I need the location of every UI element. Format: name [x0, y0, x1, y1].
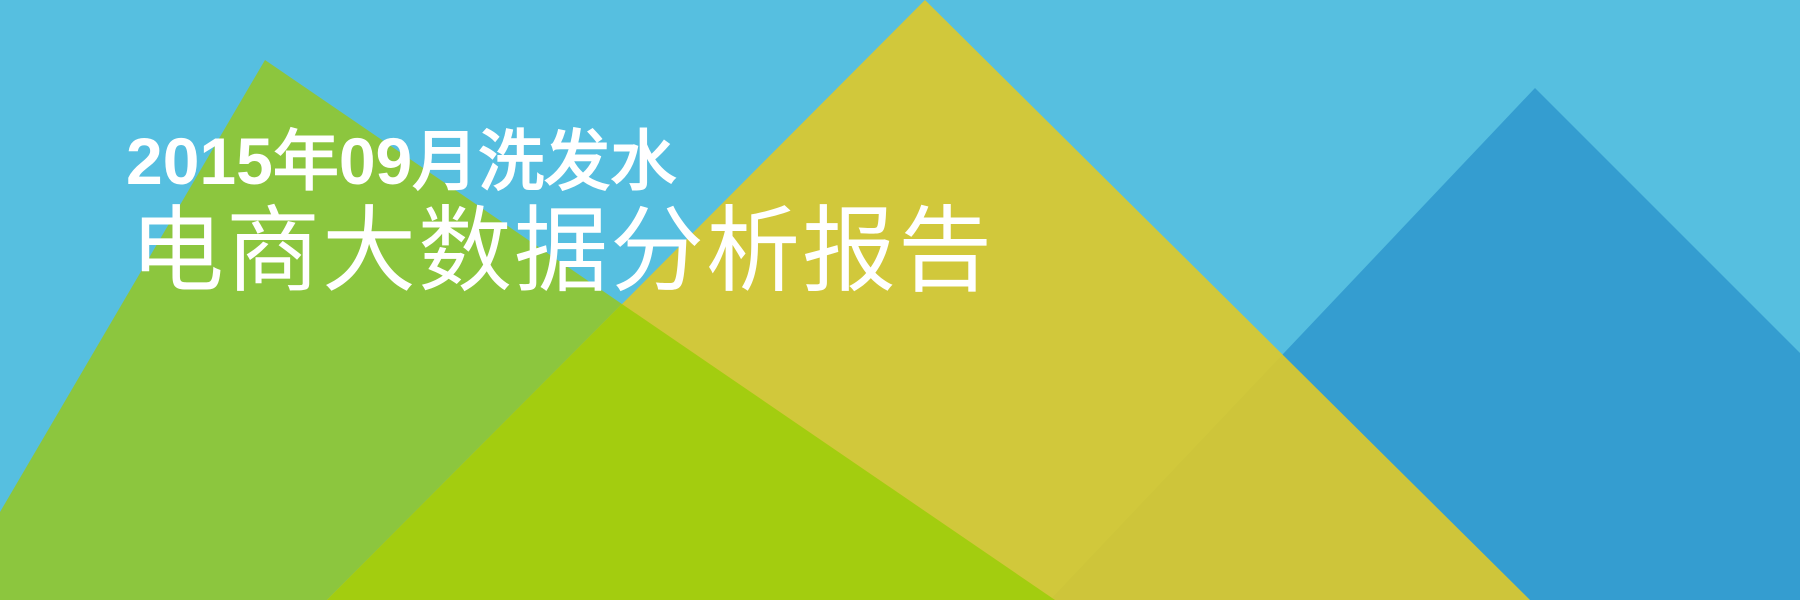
banner-background-graphic	[0, 0, 1800, 600]
report-banner: 2015年09月洗发水 电商大数据分析报告	[0, 0, 1800, 600]
